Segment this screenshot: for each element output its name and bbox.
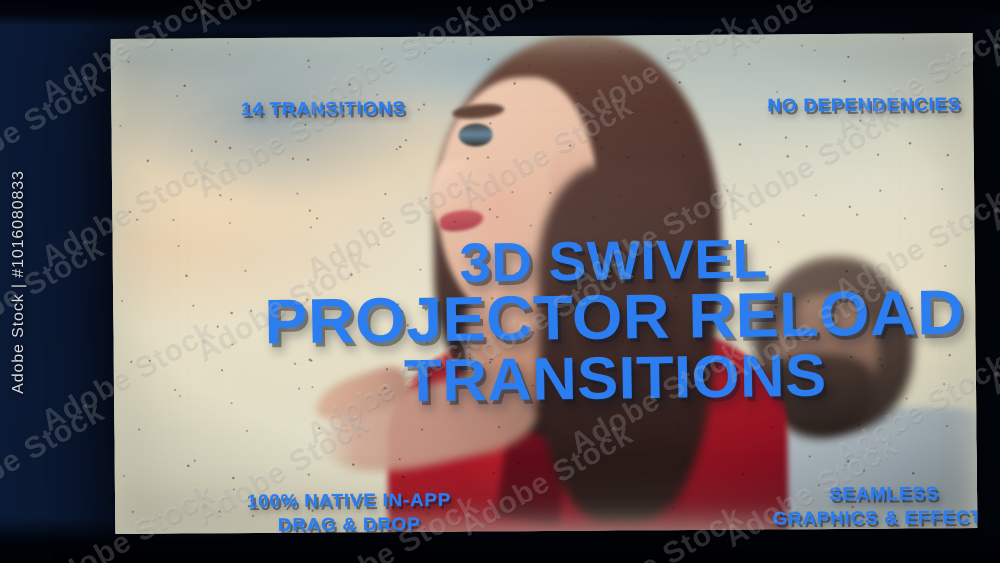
stock-credit-text: Adobe Stock | #1016080833 [10,170,28,394]
feature-seamless-line-1: SEAMLESS [829,483,939,504]
feature-label-no-dependencies: NO DEPENDENCIES [767,93,961,118]
feature-label-transitions: 14 TRANSITIONS [241,97,406,122]
screenshot-root: 14 TRANSITIONS NO DEPENDENCIES 3D SWIVEL… [0,0,1000,563]
feature-label-seamless-graphics: SEAMLESS GRAPHICS & EFFECTS [737,481,977,531]
headline-line-2: PROJECTOR RELOAD [207,282,977,354]
feature-native-line-2: DRAG & DROP [278,514,421,534]
stock-credit-bar: Adobe Stock | #1016080833 [0,0,38,563]
projection-screen: 14 TRANSITIONS NO DEPENDENCIES 3D SWIVEL… [111,33,978,534]
screen-content: 14 TRANSITIONS NO DEPENDENCIES 3D SWIVEL… [111,33,978,534]
feature-native-line-1: 100% NATIVE IN-APP [247,490,451,511]
feature-label-native-drag-drop: 100% NATIVE IN-APP DRAG & DROP [220,487,478,534]
frame-top-shadow [0,0,1000,26]
feature-seamless-line-2: GRAPHICS & EFFECTS [773,507,978,529]
headline-line-3: TRANSITIONS [208,343,977,414]
headline-block: 3D SWIVEL PROJECTOR RELOAD TRANSITIONS [218,229,977,414]
